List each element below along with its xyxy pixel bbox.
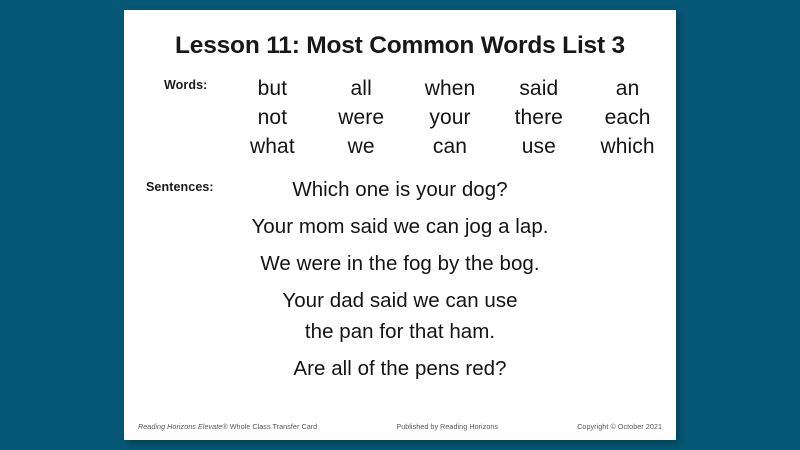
sentence-item: Your mom said we can jog a lap. [185, 211, 615, 242]
words-label: Words: [164, 78, 207, 92]
footer-publisher: Published by Reading Horizons [317, 422, 577, 431]
sentence-item: Your dad said we can use the pan for tha… [185, 285, 615, 347]
sentence-item: We were in the fog by the bog. [185, 248, 615, 279]
words-section: Words: but all when said an not were you… [124, 74, 676, 162]
footer-left-rest: Whole Class Transfer Card [228, 422, 318, 431]
words-row: but all when said an [228, 74, 672, 103]
footer-left: Reading Horizons Elevate® Whole Class Tr… [138, 422, 317, 431]
word-item: there [494, 103, 583, 132]
word-item: which [583, 132, 672, 161]
page-title: Lesson 11: Most Common Words List 3 [124, 10, 676, 60]
footer-copyright: Copyright © October 2021 [577, 422, 662, 431]
sentence-line: Are all of the pens red? [293, 357, 506, 380]
word-item: but [228, 74, 317, 103]
lesson-card: Lesson 11: Most Common Words List 3 Word… [124, 10, 676, 440]
sentence-line: Your mom said we can jog a lap. [251, 215, 548, 238]
word-item: we [317, 132, 406, 161]
word-item: each [583, 103, 672, 132]
sentence-item: Are all of the pens red? [185, 353, 615, 384]
sentence-line: the pan for that ham. [185, 316, 615, 347]
slide-root: Lesson 11: Most Common Words List 3 Word… [0, 0, 800, 450]
words-row: not were your there each [228, 103, 672, 132]
sentence-line: Your dad said we can use [282, 289, 517, 312]
word-item: what [228, 132, 317, 161]
footer-brand: Reading Horizons Elevate® [138, 422, 228, 431]
word-item: all [317, 74, 406, 103]
word-item: said [494, 74, 583, 103]
sentences-list: Which one is your dog? Your mom said we … [185, 174, 615, 384]
sentence-line: Which one is your dog? [292, 178, 507, 201]
word-item: your [406, 103, 495, 132]
words-grid: but all when said an not were your there… [228, 74, 672, 161]
sentences-label: Sentences: [146, 180, 214, 194]
card-footer: Reading Horizons Elevate® Whole Class Tr… [124, 422, 676, 431]
word-item: when [406, 74, 495, 103]
sentence-line: We were in the fog by the bog. [260, 252, 539, 275]
word-item: use [494, 132, 583, 161]
word-item: can [406, 132, 495, 161]
word-item: not [228, 103, 317, 132]
words-row: what we can use which [228, 132, 672, 161]
sentences-section: Sentences: Which one is your dog? Your m… [124, 174, 676, 384]
sentence-item: Which one is your dog? [185, 174, 615, 205]
word-item: were [317, 103, 406, 132]
word-item: an [583, 74, 672, 103]
